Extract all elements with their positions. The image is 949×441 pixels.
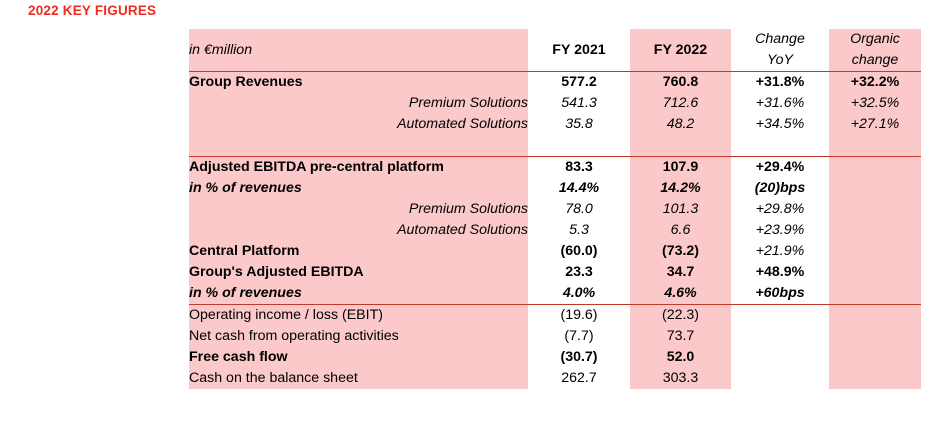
cell-fy2022: 101.3 bbox=[630, 199, 731, 220]
cell-fy2021: (19.6) bbox=[528, 305, 630, 327]
cell-fy2022: (22.3) bbox=[630, 305, 731, 327]
cell-organic-change bbox=[829, 157, 921, 179]
cell-change-yoy: +21.9% bbox=[731, 241, 829, 262]
row-label: in % of revenues bbox=[189, 178, 528, 199]
cell-organic-change bbox=[829, 178, 921, 199]
row-label: Group Revenues bbox=[189, 72, 528, 94]
table-row: Premium Solutions78.0101.3+29.8% bbox=[189, 199, 921, 220]
header-fy2022: FY 2022 bbox=[630, 29, 731, 72]
table-row: in % of revenues14.4%14.2%(20)bps bbox=[189, 178, 921, 199]
cell-fy2021: 78.0 bbox=[528, 199, 630, 220]
cell-fy2022: 760.8 bbox=[630, 72, 731, 94]
header-unit: in €million bbox=[189, 29, 528, 72]
cell-change-yoy: +34.5% bbox=[731, 114, 829, 135]
cell-change-yoy: +29.4% bbox=[731, 157, 829, 179]
row-label: Adjusted EBITDA pre-central platform bbox=[189, 157, 528, 179]
cell-fy2021: 262.7 bbox=[528, 368, 630, 389]
row-label: Group's Adjusted EBITDA bbox=[189, 262, 528, 283]
cell-fy2021: 541.3 bbox=[528, 93, 630, 114]
table-row: Free cash flow(30.7)52.0 bbox=[189, 347, 921, 368]
header-change-yoy: Change YoY bbox=[731, 29, 829, 72]
cell-fy2021: (30.7) bbox=[528, 347, 630, 368]
cell-organic-change bbox=[829, 283, 921, 305]
cell-fy2021: (7.7) bbox=[528, 326, 630, 347]
cell-organic-change bbox=[829, 262, 921, 283]
table-row: in % of revenues4.0%4.6%+60bps bbox=[189, 283, 921, 305]
cell-fy2021: 23.3 bbox=[528, 262, 630, 283]
page-title: 2022 KEY FIGURES bbox=[28, 3, 156, 18]
spacer-cell bbox=[829, 135, 921, 157]
cell-organic-change: +32.5% bbox=[829, 93, 921, 114]
table-header-row: in €million FY 2021 FY 2022 Change YoY O… bbox=[189, 29, 921, 72]
cell-change-yoy: +31.8% bbox=[731, 72, 829, 94]
cell-organic-change: +27.1% bbox=[829, 114, 921, 135]
table-row: Operating income / loss (EBIT)(19.6)(22.… bbox=[189, 305, 921, 327]
header-change-yoy-line1: Change bbox=[731, 29, 829, 50]
header-fy2021: FY 2021 bbox=[528, 29, 630, 72]
row-label: Automated Solutions bbox=[189, 220, 528, 241]
cell-organic-change bbox=[829, 199, 921, 220]
table-row: Central Platform(60.0)(73.2)+21.9% bbox=[189, 241, 921, 262]
cell-fy2022: 303.3 bbox=[630, 368, 731, 389]
row-label: Premium Solutions bbox=[189, 199, 528, 220]
cell-fy2022: (73.2) bbox=[630, 241, 731, 262]
cell-change-yoy bbox=[731, 347, 829, 368]
row-label: Central Platform bbox=[189, 241, 528, 262]
cell-fy2021: 83.3 bbox=[528, 157, 630, 179]
table-row: Automated Solutions35.848.2+34.5%+27.1% bbox=[189, 114, 921, 135]
cell-change-yoy: +23.9% bbox=[731, 220, 829, 241]
row-label: Free cash flow bbox=[189, 347, 528, 368]
spacer-cell bbox=[731, 135, 829, 157]
cell-organic-change bbox=[829, 368, 921, 389]
row-label: Operating income / loss (EBIT) bbox=[189, 305, 528, 327]
cell-fy2021: 5.3 bbox=[528, 220, 630, 241]
cell-change-yoy: +48.9% bbox=[731, 262, 829, 283]
cell-organic-change bbox=[829, 326, 921, 347]
table-body: Group Revenues577.2760.8+31.8%+32.2%Prem… bbox=[189, 72, 921, 390]
spacer-cell bbox=[528, 135, 630, 157]
table-row: Cash on the balance sheet262.7303.3 bbox=[189, 368, 921, 389]
table-row: Premium Solutions541.3712.6+31.6%+32.5% bbox=[189, 93, 921, 114]
row-label: Cash on the balance sheet bbox=[189, 368, 528, 389]
row-label: Premium Solutions bbox=[189, 93, 528, 114]
cell-fy2021: 4.0% bbox=[528, 283, 630, 305]
cell-fy2022: 34.7 bbox=[630, 262, 731, 283]
cell-organic-change bbox=[829, 220, 921, 241]
header-organic-change: Organic change bbox=[829, 29, 921, 72]
cell-fy2021: 35.8 bbox=[528, 114, 630, 135]
cell-change-yoy: (20)bps bbox=[731, 178, 829, 199]
cell-change-yoy: +31.6% bbox=[731, 93, 829, 114]
cell-fy2022: 73.7 bbox=[630, 326, 731, 347]
cell-fy2022: 48.2 bbox=[630, 114, 731, 135]
cell-change-yoy bbox=[731, 305, 829, 327]
spacer-row bbox=[189, 135, 921, 157]
cell-fy2022: 14.2% bbox=[630, 178, 731, 199]
cell-fy2022: 52.0 bbox=[630, 347, 731, 368]
cell-change-yoy: +29.8% bbox=[731, 199, 829, 220]
header-organic-line2: change bbox=[829, 50, 921, 71]
table-row: Group's Adjusted EBITDA23.334.7+48.9% bbox=[189, 262, 921, 283]
cell-change-yoy bbox=[731, 326, 829, 347]
table-row: Group Revenues577.2760.8+31.8%+32.2% bbox=[189, 72, 921, 94]
row-label: in % of revenues bbox=[189, 283, 528, 305]
cell-organic-change bbox=[829, 241, 921, 262]
cell-fy2022: 4.6% bbox=[630, 283, 731, 305]
cell-fy2022: 107.9 bbox=[630, 157, 731, 179]
table-row: Adjusted EBITDA pre-central platform83.3… bbox=[189, 157, 921, 179]
cell-fy2022: 6.6 bbox=[630, 220, 731, 241]
cell-fy2021: (60.0) bbox=[528, 241, 630, 262]
table-row: Net cash from operating activities(7.7)7… bbox=[189, 326, 921, 347]
cell-change-yoy bbox=[731, 368, 829, 389]
row-label: Net cash from operating activities bbox=[189, 326, 528, 347]
cell-fy2021: 14.4% bbox=[528, 178, 630, 199]
cell-organic-change bbox=[829, 305, 921, 327]
spacer-cell bbox=[189, 135, 528, 157]
spacer-cell bbox=[630, 135, 731, 157]
header-organic-line1: Organic bbox=[829, 29, 921, 50]
cell-organic-change bbox=[829, 347, 921, 368]
row-label: Automated Solutions bbox=[189, 114, 528, 135]
cell-fy2022: 712.6 bbox=[630, 93, 731, 114]
cell-fy2021: 577.2 bbox=[528, 72, 630, 94]
header-change-yoy-line2: YoY bbox=[731, 50, 829, 71]
cell-change-yoy: +60bps bbox=[731, 283, 829, 305]
key-figures-table: in €million FY 2021 FY 2022 Change YoY O… bbox=[189, 29, 921, 389]
cell-organic-change: +32.2% bbox=[829, 72, 921, 94]
table-row: Automated Solutions5.36.6+23.9% bbox=[189, 220, 921, 241]
